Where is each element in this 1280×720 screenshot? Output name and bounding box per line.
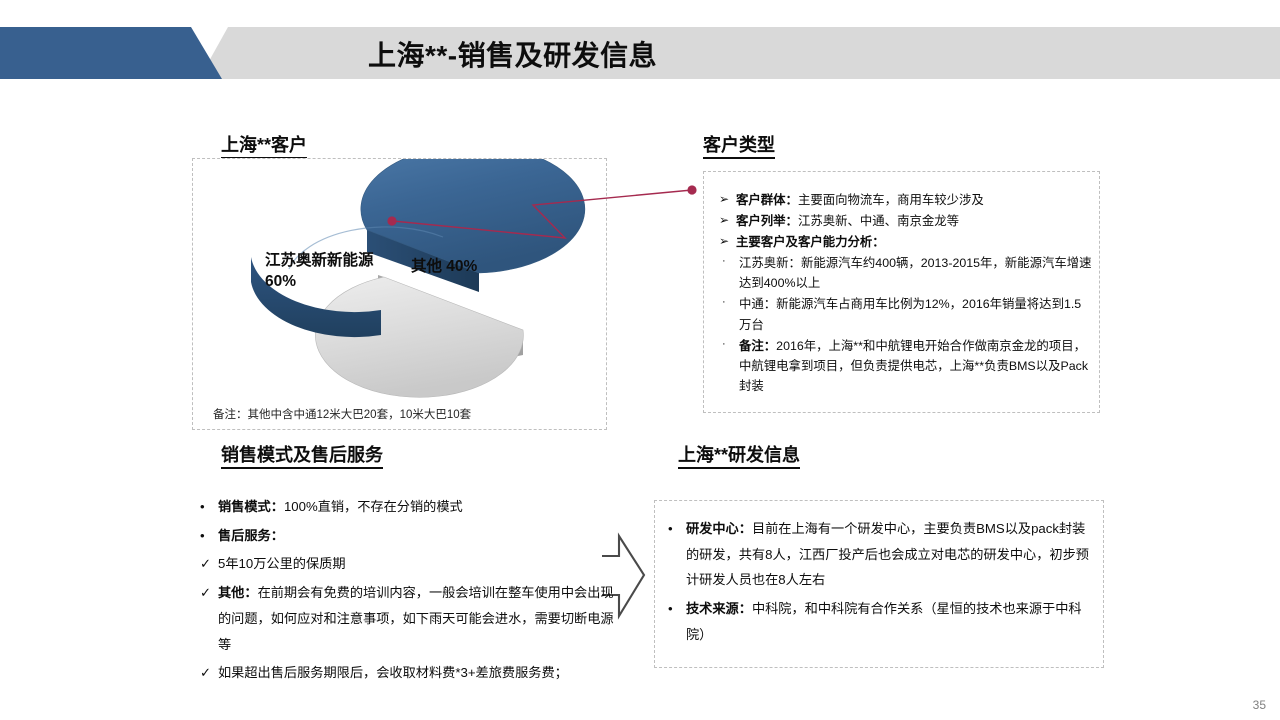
sales-mode-bullet-icon: ✓	[200, 660, 218, 686]
rnd-info-label: 技术来源：	[686, 601, 752, 616]
customer-type-bullet-icon: ·	[719, 336, 739, 354]
sales-mode-item: ✓其他：在前期会有免费的培训内容，一般会培训在整车使用中会出现的问题，如何应对和…	[200, 580, 620, 657]
page-title: 上海**-销售及研发信息	[368, 34, 657, 74]
customer-type-item: ·中通：新能源汽车占商用车比例为12%，2016年销量将达到1.5万台	[719, 294, 1093, 334]
rnd-info-list: •研发中心：目前在上海有一个研发中心，主要负责BMS以及pack封装的研发，共有…	[668, 516, 1092, 651]
sales-mode-list: •销售模式：100%直销，不存在分销的模式•售后服务：✓5年10万公里的保质期✓…	[200, 494, 620, 689]
heading-sales-mode: 销售模式及售后服务	[221, 445, 383, 469]
customer-type-label: 客户列举：	[736, 214, 798, 228]
customer-type-bullet-icon: ➢	[719, 190, 736, 209]
customer-type-item: ➢客户列举：江苏奥新、中通、南京金龙等	[719, 211, 1093, 231]
customer-type-item: ·江苏奥新：新能源汽车约400辆，2013-2015年，新能源汽车增速达到400…	[719, 253, 1093, 293]
sales-mode-label: 售后服务：	[218, 528, 284, 543]
sales-mode-label: 销售模式：	[218, 499, 284, 514]
customer-type-bullet-icon: ➢	[719, 232, 736, 251]
pie-chart-note: 备注：其他中含中通12米大巴20套，10米大巴10套	[213, 406, 471, 422]
customer-type-text: 备注：2016年，上海**和中航锂电开始合作做南京金龙的项目，中航锂电拿到项目，…	[739, 336, 1093, 396]
sales-mode-label: 其他：	[218, 585, 258, 600]
sales-mode-bullet-icon: ✓	[200, 580, 218, 606]
pie-label-aoxin-value: 60%	[265, 273, 296, 290]
pie-label-other: 其他 40%	[411, 257, 477, 278]
customer-type-bullet-icon: ·	[719, 253, 739, 271]
pie-chart: 江苏奥新新能源 60% 其他 40% 备注：其他中含中通12米大巴20套，10米…	[193, 159, 608, 431]
rnd-info-item: •技术来源：中科院，和中科院有合作关系（星恒的技术也来源于中科院）	[668, 596, 1092, 647]
heading-customers: 上海**客户	[221, 135, 307, 159]
customer-type-text: 客户列举：江苏奥新、中通、南京金龙等	[736, 211, 1093, 231]
customer-type-list: ➢客户群体：主要面向物流车，商用车较少涉及➢客户列举：江苏奥新、中通、南京金龙等…	[719, 190, 1093, 397]
rnd-info-text: 研发中心：目前在上海有一个研发中心，主要负责BMS以及pack封装的研发，共有8…	[686, 516, 1092, 593]
customer-type-bullet-icon: ➢	[719, 211, 736, 230]
sales-mode-text: 其他：在前期会有免费的培训内容，一般会培训在整车使用中会出现的问题，如何应对和注…	[218, 580, 620, 657]
rnd-info-text: 技术来源：中科院，和中科院有合作关系（星恒的技术也来源于中科院）	[686, 596, 1092, 647]
sales-mode-item: •销售模式：100%直销，不存在分销的模式	[200, 494, 620, 520]
sales-mode-item: ✓5年10万公里的保质期	[200, 551, 620, 577]
customer-type-bullet-icon: ·	[719, 294, 739, 312]
connector-endpoint-dot-right	[687, 185, 696, 194]
sales-mode-text: 销售模式：100%直销，不存在分销的模式	[218, 494, 620, 520]
customer-type-item: ➢客户群体：主要面向物流车，商用车较少涉及	[719, 190, 1093, 210]
sales-mode-bullet-icon: ✓	[200, 551, 218, 577]
pie-slice-other-top	[315, 277, 523, 397]
sales-mode-text: 售后服务：	[218, 523, 620, 549]
customer-type-label: 主要客户及客户能力分析：	[736, 235, 885, 249]
customer-type-label: 备注：	[739, 339, 776, 353]
sales-mode-text: 如果超出售后服务期限后，会收取材料费*3+差旅费服务费；	[218, 660, 620, 686]
customer-type-item: ➢主要客户及客户能力分析：	[719, 232, 1093, 252]
slide-canvas: 上海**-销售及研发信息 上海**客户 客户类型 销售模式及售后服务 上海**研…	[0, 0, 1280, 720]
customer-type-item: ·备注：2016年，上海**和中航锂电开始合作做南京金龙的项目，中航锂电拿到项目…	[719, 336, 1093, 396]
rnd-info-label: 研发中心：	[686, 521, 752, 536]
customer-type-text: 客户群体：主要面向物流车，商用车较少涉及	[736, 190, 1093, 210]
sales-mode-item: •售后服务：	[200, 523, 620, 549]
pie-label-aoxin-name: 江苏奥新新能源	[265, 252, 374, 269]
rnd-info-bullet-icon: •	[668, 596, 686, 622]
pie-chart-panel: 江苏奥新新能源 60% 其他 40% 备注：其他中含中通12米大巴20套，10米…	[192, 158, 607, 430]
rnd-info-bullet-icon: •	[668, 516, 686, 542]
sales-mode-bullet-icon: •	[200, 523, 218, 549]
rnd-info-item: •研发中心：目前在上海有一个研发中心，主要负责BMS以及pack封装的研发，共有…	[668, 516, 1092, 593]
customer-type-text: 江苏奥新：新能源汽车约400辆，2013-2015年，新能源汽车增速达到400%…	[739, 253, 1093, 293]
customer-type-label: 客户群体：	[736, 193, 798, 207]
heading-customer-type: 客户类型	[703, 135, 775, 159]
pie-chart-svg	[193, 159, 608, 431]
pie-label-aoxin: 江苏奥新新能源 60%	[265, 251, 395, 293]
sales-mode-item: ✓如果超出售后服务期限后，会收取材料费*3+差旅费服务费；	[200, 660, 620, 686]
sales-mode-bullet-icon: •	[200, 494, 218, 520]
heading-rnd-info: 上海**研发信息	[678, 445, 800, 469]
customer-type-text: 中通：新能源汽车占商用车比例为12%，2016年销量将达到1.5万台	[739, 294, 1093, 334]
page-number: 35	[1253, 698, 1266, 712]
customer-type-text: 主要客户及客户能力分析：	[736, 232, 1093, 252]
sales-mode-text: 5年10万公里的保质期	[218, 551, 620, 577]
